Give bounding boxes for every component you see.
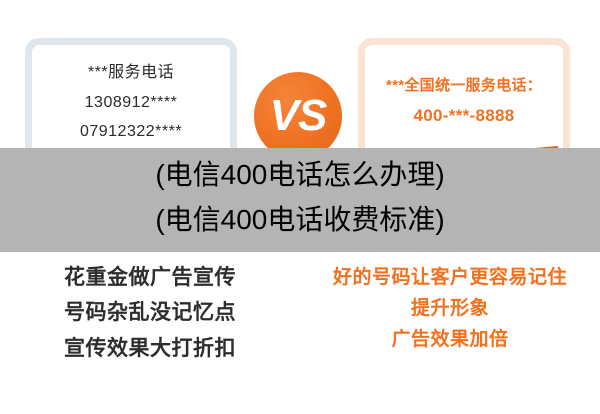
vs-badge-label: VS [270,94,327,138]
overlay-caption: (电信400电话怎么办理) (电信400电话收费标准) [0,152,600,243]
bottom-left-line-1: 花重金做广告宣传 [0,260,300,295]
overlay-caption-line-2: (电信400电话收费标准) [0,197,600,242]
bottom-columns: 花重金做广告宣传 号码杂乱没记忆点 宣传效果大打折扣 好的号码让客户更容易记住 … [0,254,600,414]
vs-badge: VS [254,72,342,160]
overlay-caption-line-1: (电信400电话怎么办理) [0,152,600,197]
left-card-line-2: 1308912**** [25,88,237,118]
bottom-left-column: 花重金做广告宣传 号码杂乱没记忆点 宣传效果大打折扣 [0,254,300,414]
poster-canvas: ***服务电话 1308912**** 07912322**** ***全国统一… [0,0,600,414]
right-card-line-2: 400-***-8888 [358,100,570,131]
bottom-left-line-2: 号码杂乱没记忆点 [0,295,300,330]
bottom-right-column: 好的号码让客户更容易记住 提升形象 广告效果加倍 [300,254,600,414]
bottom-left-line-3: 宣传效果大打折扣 [0,331,300,366]
left-card-line-3: 07912322**** [25,117,237,147]
bottom-right-line-3: 广告效果加倍 [300,325,600,356]
left-card-text: ***服务电话 1308912**** 07912322**** [25,58,237,147]
bottom-right-line-2: 提升形象 [300,294,600,325]
bottom-right-line-1: 好的号码让客户更容易记住 [300,263,600,294]
right-card-line-1: ***全国统一服务电话： [358,72,570,100]
left-card-line-1: ***服务电话 [25,58,237,88]
right-card-text: ***全国统一服务电话： 400-***-8888 [358,72,570,131]
